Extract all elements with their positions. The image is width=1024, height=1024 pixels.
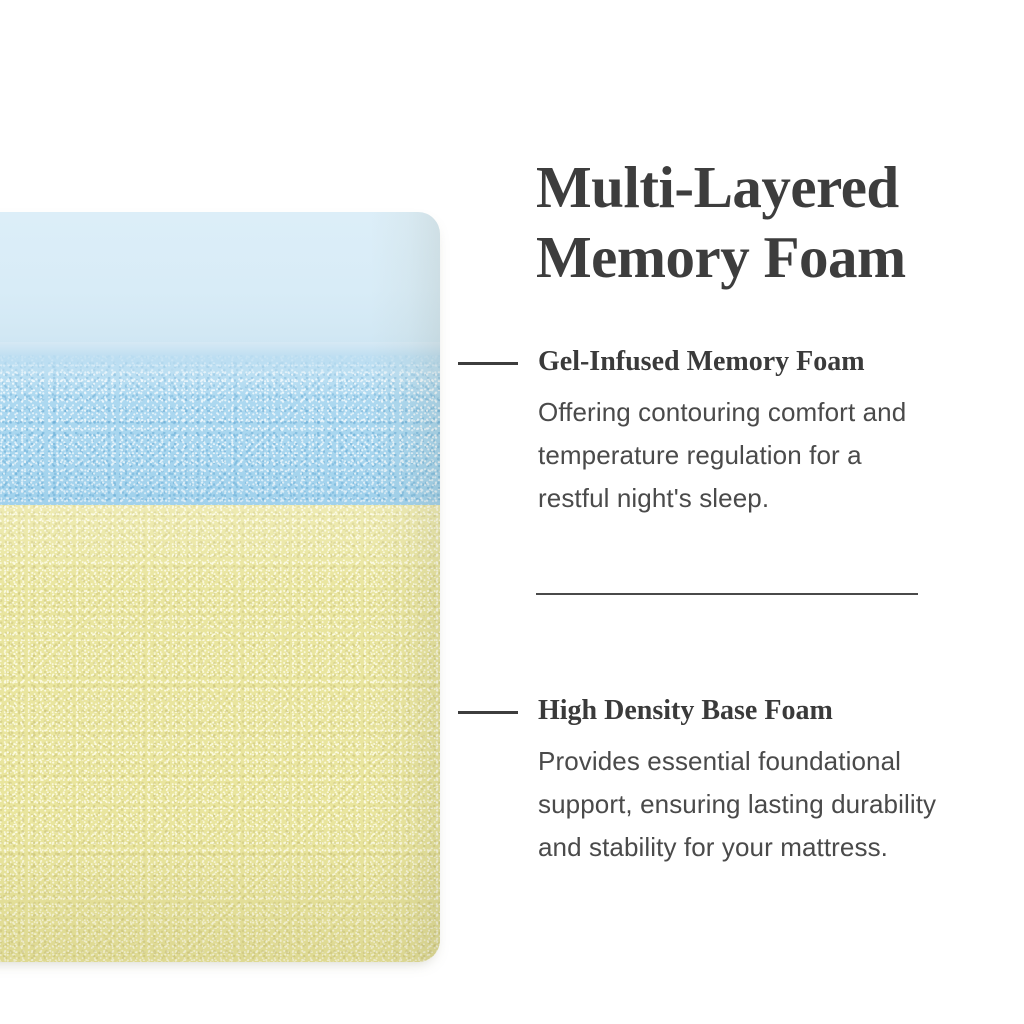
feature-2-description-line-1: Provides essential foundational	[538, 740, 998, 783]
feature-high-density-base-foam: High Density Base Foam Provides essentia…	[458, 694, 998, 895]
foam-block-illustration	[0, 212, 440, 962]
page-title-line-2: Memory Foam	[536, 222, 1006, 292]
feature-2-description-line-2: support, ensuring lasting durability	[538, 783, 998, 826]
feature-1-description-line-3: restful night's sleep.	[538, 477, 998, 520]
connector-dash-icon	[458, 711, 518, 714]
page-title-line-1: Multi-Layered	[536, 152, 1006, 222]
feature-2-title: High Density Base Foam	[538, 694, 833, 728]
foam-layer-top-cap	[0, 212, 440, 355]
connector-dash-icon	[458, 362, 518, 365]
feature-1-title: Gel-Infused Memory Foam	[538, 345, 865, 379]
feature-gel-infused-memory-foam: Gel-Infused Memory Foam Offering contour…	[458, 345, 998, 546]
feature-2-description: Provides essential foundational support,…	[538, 740, 998, 869]
foam-layer-high-density-base-foam	[0, 505, 440, 962]
page-title: Multi-Layered Memory Foam	[536, 152, 1006, 292]
feature-2-header: High Density Base Foam	[458, 694, 998, 732]
feature-1-description-line-2: temperature regulation for a	[538, 434, 998, 477]
feature-1-header: Gel-Infused Memory Foam	[458, 345, 998, 383]
infographic-page: Multi-Layered Memory Foam Gel-Infused Me…	[0, 0, 1024, 1024]
feature-2-description-line-3: and stability for your mattress.	[538, 826, 998, 869]
feature-1-description-line-1: Offering contouring comfort and	[538, 391, 998, 434]
feature-1-description: Offering contouring comfort and temperat…	[538, 391, 998, 520]
base-foam-sheen	[0, 505, 440, 962]
section-divider	[536, 593, 918, 595]
foam-layer-blend-gradient	[0, 342, 440, 378]
